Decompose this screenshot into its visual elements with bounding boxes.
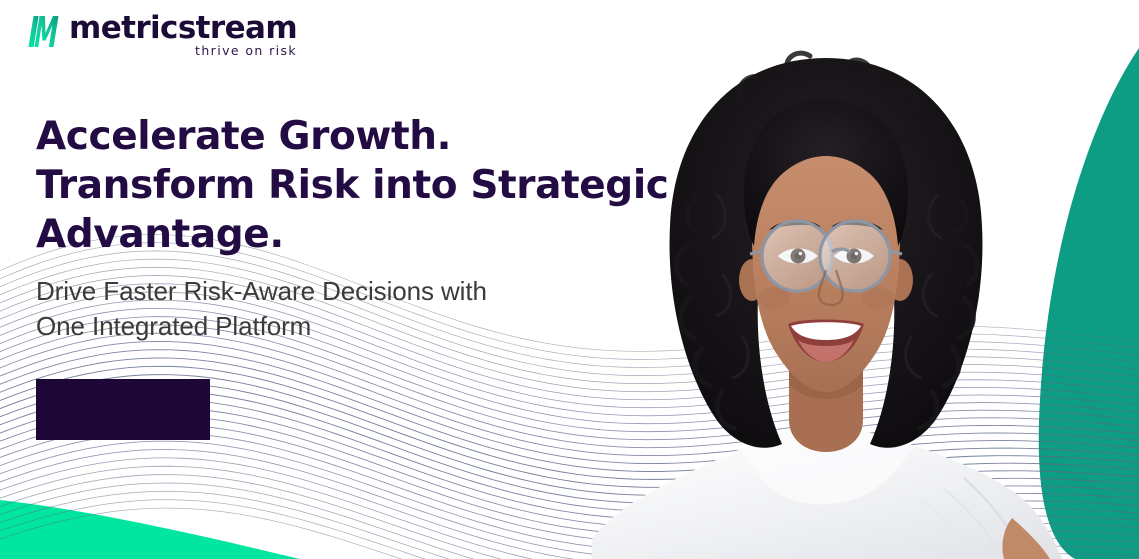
headline-line-3: Advantage. [36, 210, 596, 259]
headline-line-1: Accelerate Growth. [36, 112, 596, 161]
brand-wordmark: metricstream [69, 10, 297, 46]
headline-line-2: Transform Risk into Strategic [36, 161, 596, 210]
hero-copy: Accelerate Growth. Transform Risk into S… [36, 112, 596, 344]
hero-subtitle: Drive Faster Risk-Aware Decisions with O… [36, 274, 596, 344]
page-title: Accelerate Growth. Transform Risk into S… [36, 112, 596, 259]
metricstream-m-mark-icon [26, 10, 62, 50]
hero-banner: metricstream thrive on risk Accelerate G… [0, 0, 1139, 559]
brand-logo[interactable]: metricstream thrive on risk [26, 10, 297, 58]
hero-portrait-image [592, 48, 1062, 559]
woman-portrait-illustration [592, 48, 1062, 559]
subheadline-line-2: One Integrated Platform [36, 309, 596, 344]
hero-cta-button[interactable] [36, 379, 210, 440]
subheadline-line-1: Drive Faster Risk-Aware Decisions with [36, 274, 596, 309]
brand-tagline: thrive on risk [69, 44, 297, 58]
